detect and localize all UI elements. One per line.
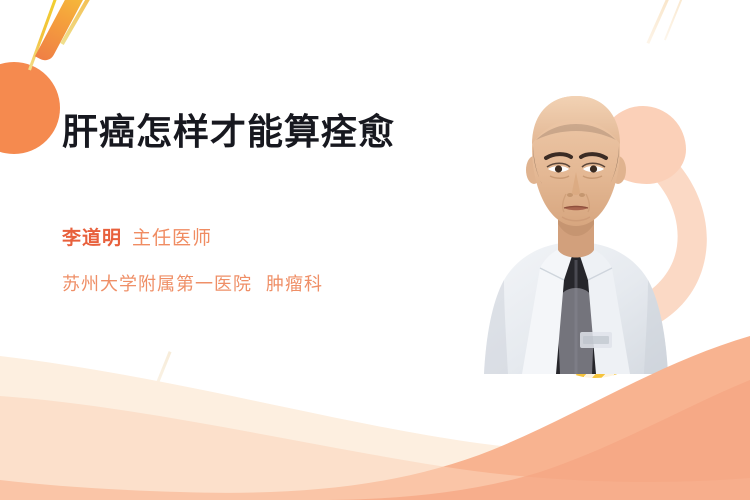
orange-circle-icon [0,62,60,154]
byline: 李道明主任医师 苏州大学附属第一医院 肿瘤科 [62,229,442,296]
diagonal-stripe-icon [35,0,90,64]
doctor-rank: 主任医师 [132,228,212,249]
hospital-row: 苏州大学附属第一医院 肿瘤科 [62,270,442,296]
diagonal-stripe-icon [664,0,686,40]
hospital-name: 苏州大学附属第一医院 [62,274,252,294]
diagonal-stripe-icon [28,0,62,71]
diagonal-stripe-icon [647,0,675,44]
doctor-portrait [476,74,676,374]
doctor-row: 李道明主任医师 [62,229,442,250]
page-title: 肝癌怎样才能算痊愈 [62,110,407,155]
department-name: 肿瘤科 [266,274,323,294]
text-block: 肝癌怎样才能算痊愈 李道明主任医师 苏州大学附属第一医院 肿瘤科 [62,110,442,296]
diagonal-stripe-icon [151,351,171,395]
diagonal-stripe-icon [60,0,100,45]
doctor-topic-card: 肝癌怎样才能算痊愈 李道明主任医师 苏州大学附属第一医院 肿瘤科 [0,0,750,500]
doctor-name: 李道明 [62,228,122,249]
